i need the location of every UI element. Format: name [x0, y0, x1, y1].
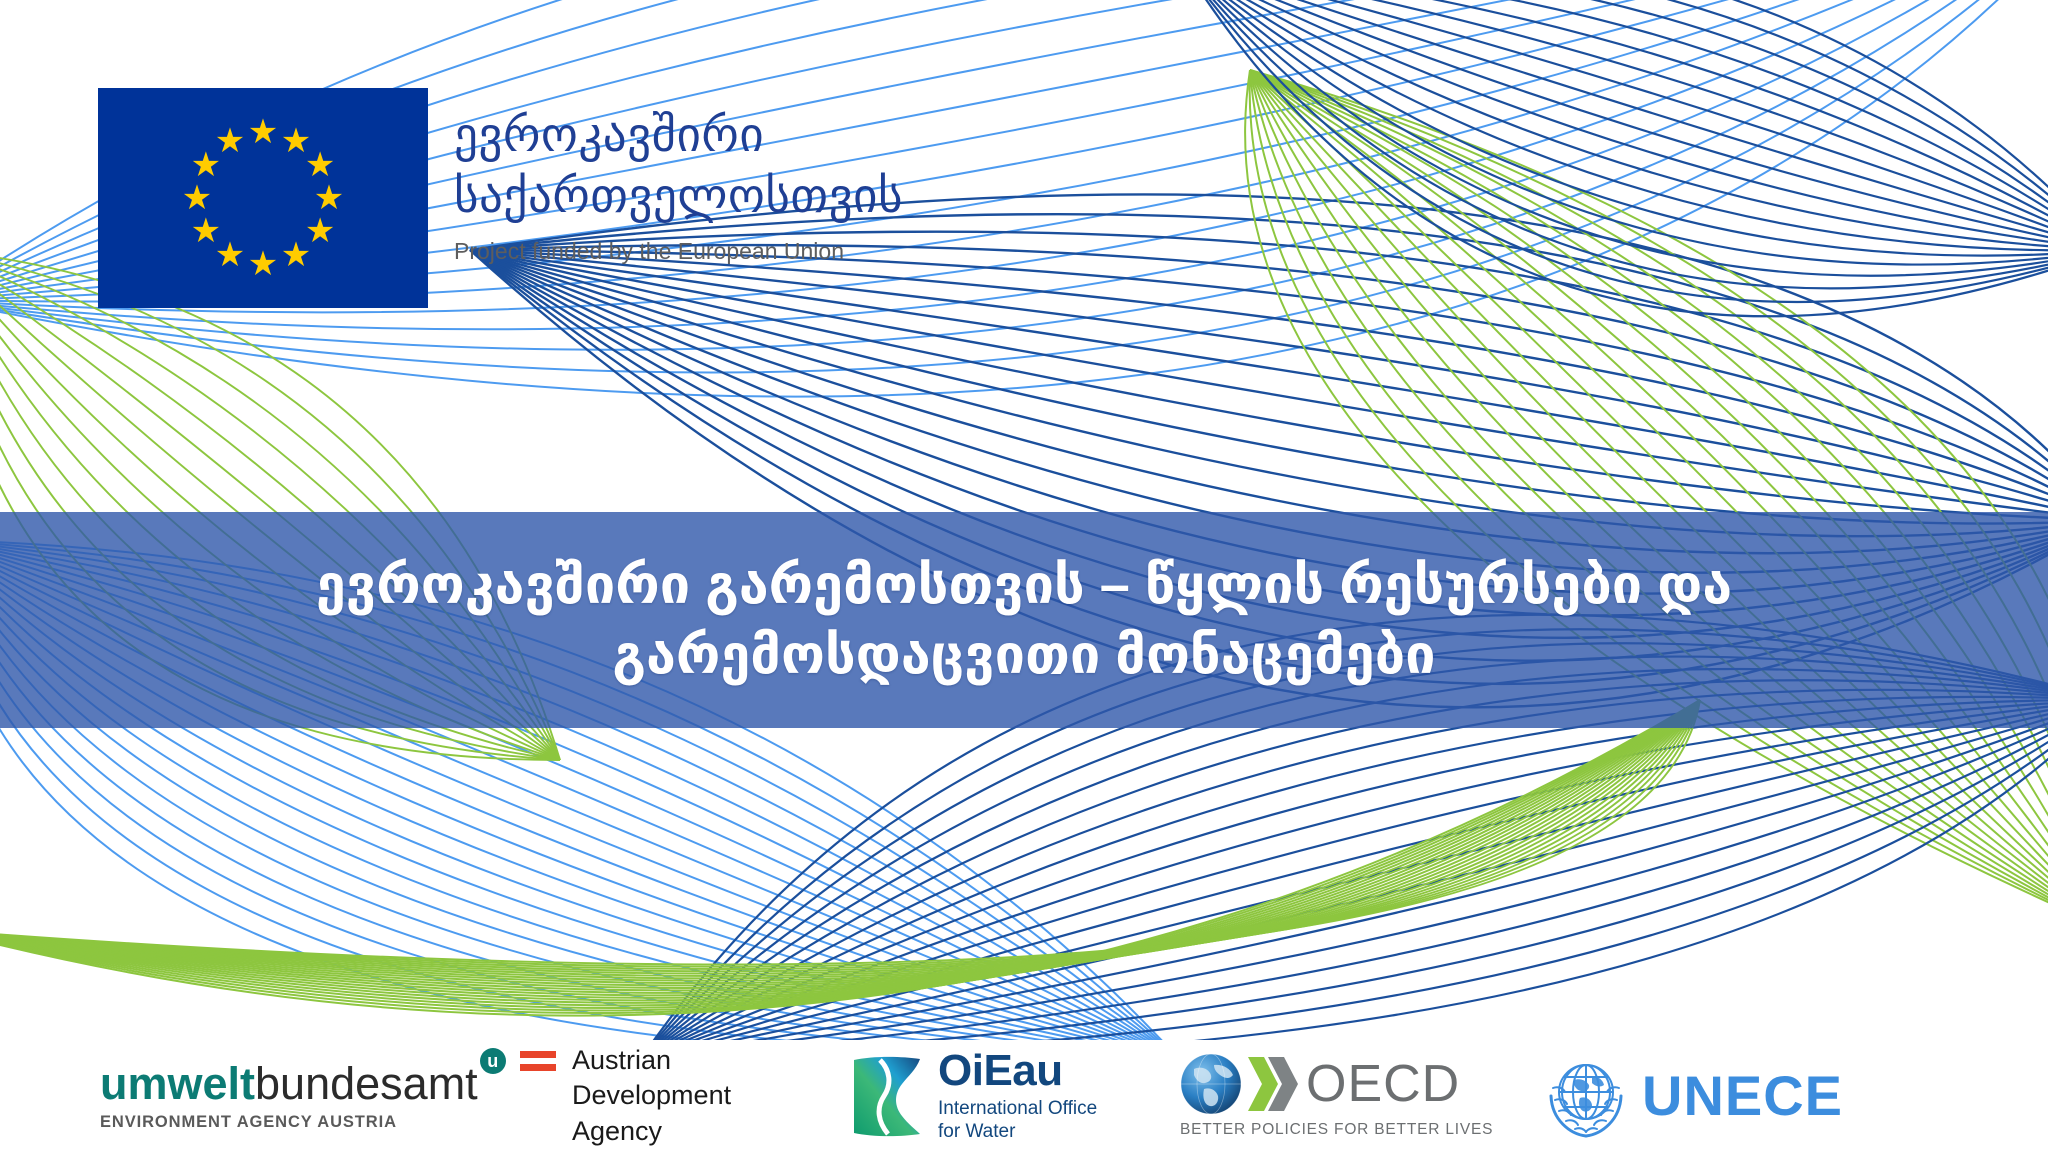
swirl-curve: [1180, 0, 2048, 265]
swirl-curve: [0, 700, 1700, 995]
umweltbundesamt-wordmark: umweltbundesamtu: [100, 1061, 506, 1106]
swirl-curve: [1180, 0, 2048, 250]
logo-oieau: OiEau International Office for Water: [850, 1049, 1180, 1143]
swirl-curve: [0, 700, 1700, 1008]
logo-unece: UNECE: [1540, 1050, 1843, 1142]
swirl-curve: [0, 700, 1700, 976]
oecd-wordmark: OECD: [1306, 1058, 1460, 1110]
eu-star-icon: ★: [189, 214, 223, 248]
swirl-curve: [0, 700, 1700, 990]
swirl-curve: [1180, 0, 2048, 250]
eu-funding-subtitle: Project funded by the European Union: [454, 238, 903, 265]
ada-wordmark: Austrian Development Agency: [572, 1043, 731, 1150]
swirl-curve: [0, 700, 1700, 988]
swirl-curve: [0, 700, 1700, 983]
eu-title-line-2: საქართველოსთვის: [454, 165, 903, 226]
swirl-curve: [0, 700, 1700, 1016]
swirl-curve: [1180, 0, 2048, 250]
eu-star-icon: ★: [303, 148, 337, 182]
swirl-curve: [1245, 70, 2048, 930]
swirl-curve: [1250, 70, 2048, 930]
title-banner: ევროკავშირი გარემოსთვის – წყლის რესურსებ…: [0, 512, 2048, 728]
swirl-curve: [0, 700, 1700, 1005]
swirl-curve: [1250, 70, 2048, 930]
ada-line-3: Agency: [572, 1114, 731, 1150]
swirl-curve: [1250, 70, 2048, 930]
swirl-curve: [1250, 70, 2048, 930]
swirl-curve: [1180, 0, 2048, 302]
oieau-tagline-line1: International Office: [938, 1097, 1097, 1120]
swirl-curve: [640, 700, 2048, 1060]
swirl-curve: [0, 700, 1700, 981]
swirl-curve: [1180, 0, 2048, 250]
swirl-curve: [640, 700, 2048, 1060]
swirl-curve: [1250, 70, 2048, 930]
swirl-curve: [0, 700, 1700, 1013]
swirl-curve: [1250, 70, 2048, 930]
swirl-curve: [1250, 70, 2048, 930]
oecd-tagline: BETTER POLICIES FOR BETTER LIVES: [1180, 1121, 1493, 1139]
swirl-curve: [1250, 70, 2048, 930]
swirl-curve: [1180, 0, 2048, 250]
swirl-curve: [1180, 0, 2048, 250]
eu-star-icon: ★: [180, 181, 214, 215]
swirl-curve: [1250, 70, 2048, 930]
swirl-curve: [1180, 0, 2048, 256]
swirl-curve: [640, 700, 2048, 1060]
swirl-curve: [1180, 0, 2048, 288]
swirl-curve: [1180, 0, 2048, 316]
swirl-curve: [640, 700, 2048, 1060]
eu-star-icon: ★: [279, 238, 313, 272]
swirl-curve: [640, 700, 2048, 1060]
swirl-curve: [640, 690, 2048, 1060]
swirl-curve: [0, 700, 1700, 978]
swirl-curve: [1250, 70, 2048, 930]
oieau-tagline: International Office for Water: [938, 1097, 1097, 1143]
swirl-curve: [640, 700, 2048, 1060]
swirl-curve: [640, 700, 2048, 1060]
swirl-curve: [1250, 70, 2048, 930]
eu-funding-logo: ★★★★★★★★★★★★ ევროკავშირი საქართველოსთვის…: [98, 88, 903, 308]
swirl-curve: [0, 700, 1700, 974]
swirl-curve: [1180, 0, 2048, 250]
swirl-curve: [0, 700, 1700, 969]
swirl-curve: [0, 700, 1700, 1000]
swirl-curve: [0, 700, 1700, 971]
eu-star-icon: ★: [246, 247, 280, 281]
swirl-curve: [1250, 70, 2048, 930]
un-emblem-icon: [1540, 1050, 1632, 1142]
swirl-curve: [640, 700, 2048, 1060]
swirl-curve: [640, 700, 2048, 1060]
presentation-title-slide: ★★★★★★★★★★★★ ევროკავშირი საქართველოსთვის…: [0, 0, 2048, 1152]
umweltbundesamt-tagline: ENVIRONMENT AGENCY AUSTRIA: [100, 1113, 506, 1132]
swirl-curve: [1250, 70, 2048, 930]
logo-austrian-development-agency: Austrian Development Agency: [520, 1043, 850, 1150]
umweltbundesamt-circle-icon: u: [480, 1048, 506, 1074]
oieau-wordmark: OiEau: [938, 1049, 1097, 1093]
logo-oecd: OECD BETTER POLICIES FOR BETTER LIVES: [1180, 1053, 1540, 1139]
swirl-curve: [640, 680, 2048, 1060]
ada-line-1: Austrian: [572, 1043, 731, 1079]
swirl-curve: [640, 700, 2048, 1060]
swirl-curve: [640, 700, 2048, 1060]
partner-logos-footer: umweltbundesamtu ENVIRONMENT AGENCY AUST…: [0, 1040, 2048, 1152]
swirl-curve: [1250, 70, 2048, 930]
eu-star-icon: ★: [213, 124, 247, 158]
swirl-curve: [1250, 70, 2048, 930]
logo-umweltbundesamt: umweltbundesamtu ENVIRONMENT AGENCY AUST…: [100, 1061, 520, 1132]
swirl-curve: [0, 700, 1700, 1003]
page-title: ევროკავშირი გარემოსთვის – წყლის რესურსებ…: [194, 550, 1854, 690]
swirl-curve: [1250, 70, 2048, 930]
swirl-curve: [640, 697, 2048, 1060]
eu-star-icon: ★: [246, 115, 280, 149]
swirl-curve: [1250, 70, 2048, 930]
swirl-curve: [0, 700, 1700, 993]
swirl-curve: [1180, 0, 2048, 250]
swirl-curve: [1250, 70, 2048, 930]
swirl-curve: [0, 700, 1700, 1010]
swirl-curve: [1180, 0, 2048, 250]
ada-line-2: Development: [572, 1078, 731, 1114]
austria-flag-icon: [520, 1051, 556, 1071]
swirl-curve: [0, 700, 1700, 986]
swirl-curve: [640, 700, 2048, 1061]
oieau-tagline-line2: for Water: [938, 1120, 1097, 1143]
swirl-curve: [0, 700, 1700, 998]
swirl-curve: [0, 700, 1700, 964]
eu-flag-icon: ★★★★★★★★★★★★: [98, 88, 428, 308]
umweltbundesamt-word-part1: umwelt: [100, 1058, 255, 1109]
swirl-curve: [1180, 0, 2048, 276]
oieau-river-icon: [850, 1054, 924, 1138]
umweltbundesamt-word-part2: bundesamt: [255, 1058, 478, 1109]
eu-title-line-1: ევროკავშირი: [454, 104, 903, 165]
eu-star-icon: ★: [312, 181, 346, 215]
swirl-curve: [1180, 0, 2048, 250]
swirl-curve: [0, 700, 1700, 967]
oecd-chevron-icon: [1244, 1053, 1300, 1115]
unece-wordmark: UNECE: [1642, 1068, 1843, 1124]
oecd-globe-icon: [1180, 1053, 1242, 1115]
swirl-curve: [1180, 0, 2048, 250]
swirl-curve: [1180, 0, 2048, 250]
swirl-curve: [1250, 70, 2048, 930]
eu-logo-text: ევროკავშირი საქართველოსთვის Project fund…: [454, 88, 903, 265]
